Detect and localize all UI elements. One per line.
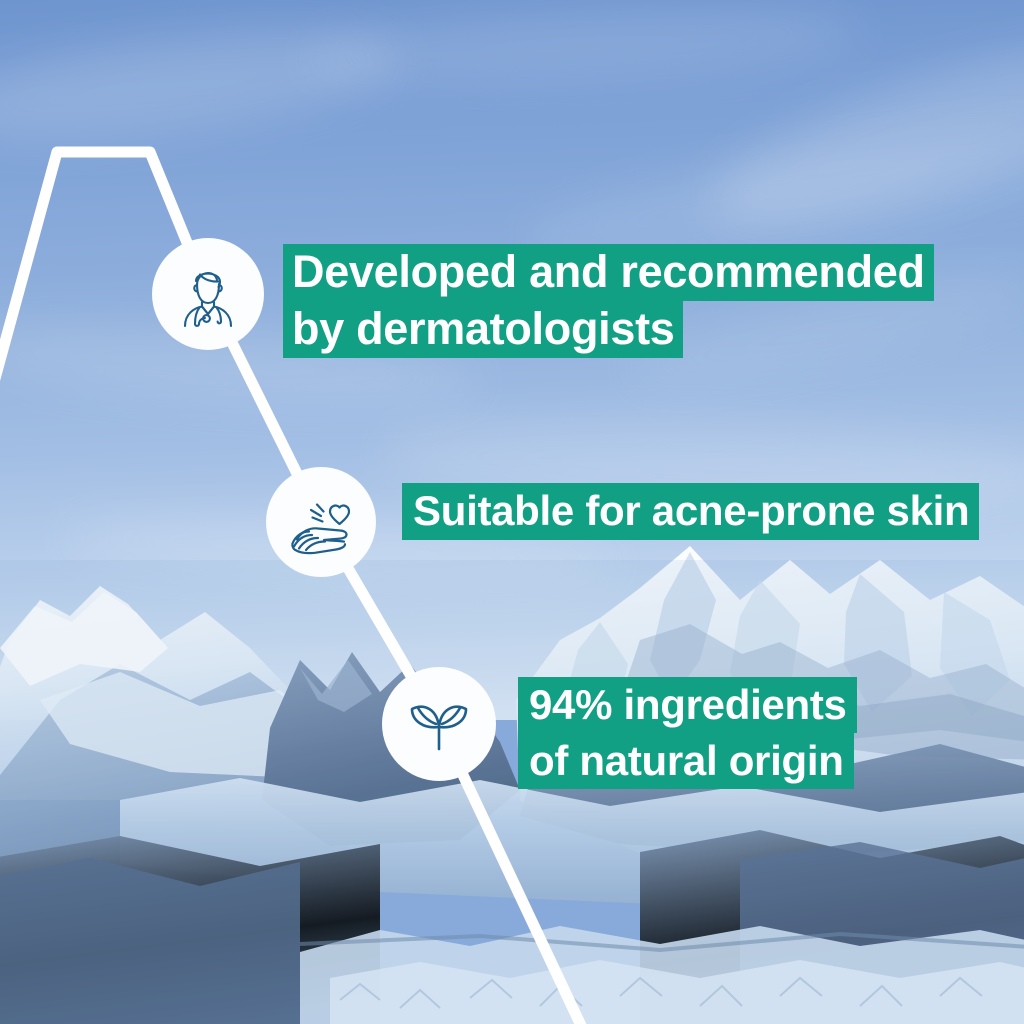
benefit-text-line: Developed and recommended	[283, 244, 934, 301]
benefit-badge-acne-prone	[266, 467, 376, 577]
benefits-infographic: Developed and recommended by dermatologi…	[0, 0, 1024, 1024]
hand-heart-icon	[284, 485, 358, 559]
benefit-text-line: 94% ingredients	[518, 677, 857, 733]
doctor-stethoscope-icon	[172, 258, 244, 330]
leaves-icon	[402, 687, 476, 761]
benefit-badge-dermatologist	[152, 238, 264, 350]
benefit-text-line: by dermatologists	[283, 301, 683, 358]
benefit-text-natural-origin: 94% ingredients of natural origin	[518, 677, 857, 789]
benefit-text-dermatologist: Developed and recommended by dermatologi…	[283, 244, 934, 358]
benefit-text-acne-prone: Suitable for acne-prone skin	[402, 483, 979, 540]
benefit-badge-natural-origin	[382, 667, 496, 781]
benefit-text-line: of natural origin	[518, 733, 854, 789]
benefit-text-line: Suitable for acne-prone skin	[402, 483, 979, 540]
